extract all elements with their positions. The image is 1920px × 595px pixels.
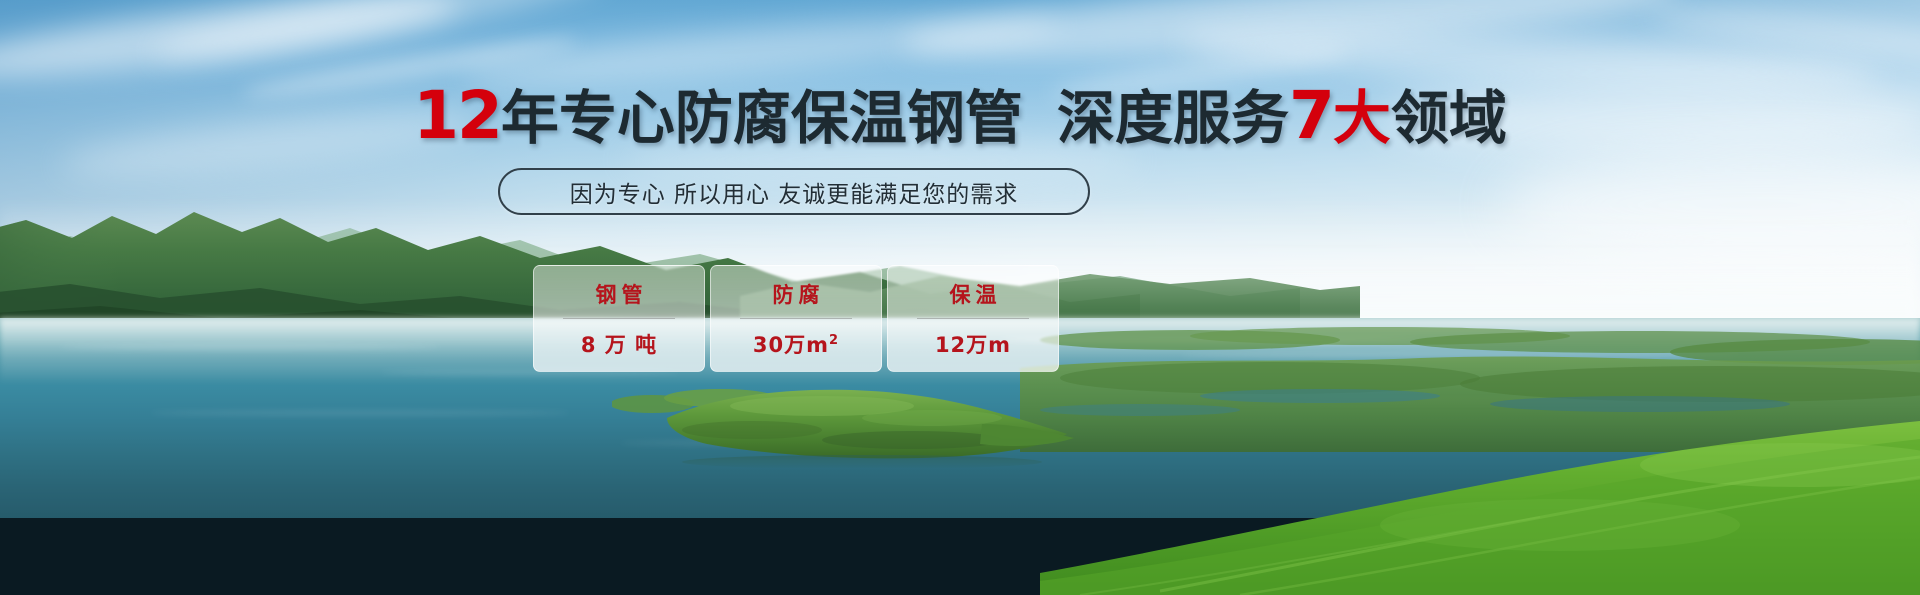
stat-card-insulation[interactable]: 保温 12万m — [887, 265, 1059, 372]
headline-main-text: 年专心防腐保温钢管 — [501, 84, 1023, 152]
water-streak — [60, 344, 440, 350]
stat-cards-group: 钢管 8 万 吨 防腐 30万m2 保温 12万m — [533, 265, 1059, 372]
subtitle-pill: 因为专心 所以用心 友诚更能满足您的需求 — [498, 168, 1090, 215]
stat-card-value-superscript: 2 — [829, 333, 839, 348]
stat-card-divider — [563, 318, 675, 319]
headline-fields-text: 领域 — [1391, 84, 1507, 152]
stat-card-steel-pipe[interactable]: 钢管 8 万 吨 — [533, 265, 705, 372]
stat-card-title: 钢管 — [591, 279, 648, 309]
promotional-banner: 12年专心防腐保温钢管深度服务7大领域 因为专心 所以用心 友诚更能满足您的需求… — [0, 0, 1920, 595]
stat-card-anticorrosion[interactable]: 防腐 30万m2 — [710, 265, 882, 372]
stat-card-value-text: 12万m — [935, 333, 1011, 357]
headline-years-number: 12 — [413, 77, 501, 154]
subtitle-text: 因为专心 所以用心 友诚更能满足您的需求 — [570, 175, 1019, 209]
foreground-grass — [1040, 405, 1920, 595]
headline-service-text: 深度服务 — [1057, 84, 1289, 152]
banner-headline: 12年专心防腐保温钢管深度服务7大领域 — [0, 86, 1920, 148]
stat-card-value: 12万m — [935, 329, 1011, 359]
stat-card-divider — [917, 318, 1029, 319]
stat-card-title: 防腐 — [768, 279, 825, 309]
water-streak — [150, 410, 570, 416]
grass-island — [612, 378, 1082, 473]
stat-card-divider — [740, 318, 852, 319]
stat-card-title: 保温 — [945, 279, 1002, 309]
headline-fields-measure: 大 — [1333, 84, 1391, 152]
headline-fields-number: 7 — [1289, 77, 1333, 154]
stat-card-value-text: 30万m — [753, 333, 829, 357]
stat-card-value: 30万m2 — [753, 329, 839, 359]
stat-card-value: 8 万 吨 — [581, 329, 657, 359]
stat-card-value-text: 8 万 吨 — [581, 333, 657, 357]
